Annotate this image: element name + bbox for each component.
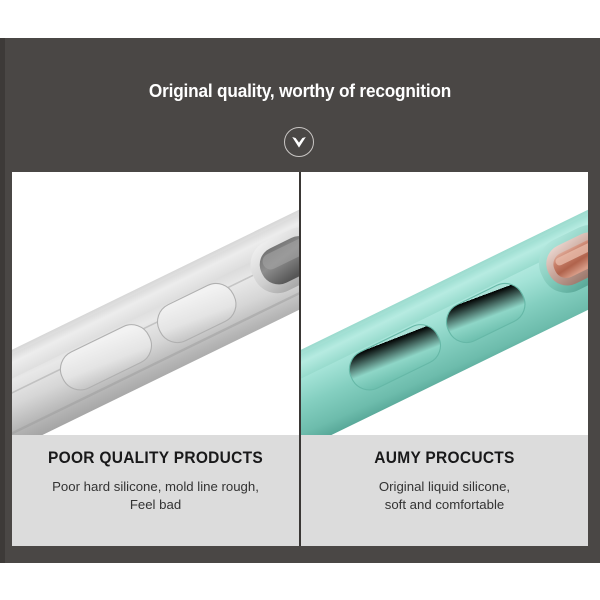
- poor-quality-caption-title: POOR QUALITY PRODUCTS: [21, 449, 291, 468]
- poor-quality-caption: POOR QUALITY PRODUCTS Poor hard silicone…: [12, 435, 299, 546]
- product-comparison-banner: Original quality, worthy of recognition: [0, 0, 600, 600]
- page-title: Original quality, worthy of recognition: [21, 80, 579, 102]
- comparison-panel-poor-quality: POOR QUALITY PRODUCTS Poor hard silicone…: [12, 172, 300, 546]
- aumy-caption-line-1: Original liquid silicone,: [311, 478, 578, 496]
- poor-quality-product-photo: [12, 172, 299, 435]
- poor-quality-caption-body: Poor hard silicone, mold line rough, Fee…: [12, 478, 299, 514]
- comparison-panel-aumy-products: AUMY PROCUCTS Original liquid silicone, …: [300, 172, 588, 546]
- scroll-down-badge[interactable]: [284, 127, 314, 157]
- aumy-product-photo: [301, 172, 588, 435]
- poor-quality-caption-line-2: Feel bad: [22, 496, 289, 514]
- aumy-caption-body: Original liquid silicone, soft and comfo…: [301, 478, 588, 514]
- aumy-caption: AUMY PROCUCTS Original liquid silicone, …: [301, 435, 588, 546]
- poor-quality-caption-line-1: Poor hard silicone, mold line rough,: [22, 478, 289, 496]
- aumy-caption-line-2: soft and comfortable: [311, 496, 578, 514]
- comparison-board: POOR QUALITY PRODUCTS Poor hard silicone…: [12, 172, 588, 546]
- aumy-caption-title: AUMY PROCUCTS: [310, 449, 580, 468]
